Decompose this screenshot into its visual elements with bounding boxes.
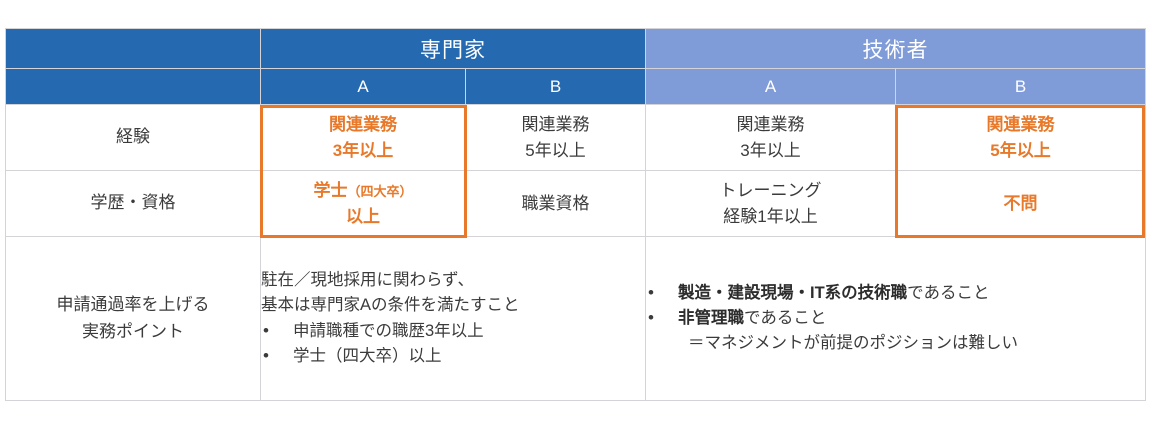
list-item: 学士（四大卒）以上 [261, 344, 645, 369]
row-label-line-1: 申請通過率を上げる [6, 292, 260, 318]
cell-line-1: トレーニング [646, 178, 895, 204]
table-row-practical-points: 申請通過率を上げる 実務ポイント 駐在／現地採用に関わらず、 基本は専門家Aの条… [6, 237, 1146, 401]
cell-education-technician-b: 不問 [896, 171, 1146, 237]
list-item-subnote: ＝マネジメントが前提のポジションは難しい [678, 331, 1145, 356]
cell-experience-technician-a: 関連業務 3年以上 [646, 105, 896, 171]
notes-intro-line-2: 基本は専門家Aの条件を満たすこと [261, 293, 645, 318]
cell-line-2: 3年以上 [261, 138, 465, 164]
list-item-rest: であること [907, 284, 989, 302]
cell-line-2: 5年以上 [466, 138, 645, 164]
cell-line-2: 経験1年以上 [646, 204, 895, 230]
table-row-experience: 経験 関連業務 3年以上 関連業務 5年以上 関連業務 3年以上 関連業務 5年… [6, 105, 1146, 171]
cell-education-specialist-a: 学士（四大卒） 以上 [261, 171, 466, 237]
header-sub-blank [6, 69, 261, 105]
cell-education-technician-a: トレーニング 経験1年以上 [646, 171, 896, 237]
notes-specialist: 駐在／現地採用に関わらず、 基本は専門家Aの条件を満たすこと 申請職種での職歴3… [261, 237, 646, 401]
list-item-bold: 非管理職 [678, 309, 744, 327]
cell-line-1: 学士（四大卒） [261, 178, 465, 204]
header-group-specialist: 専門家 [261, 29, 646, 69]
list-item-rest: であること [744, 309, 826, 327]
header-corner-blank [6, 29, 261, 69]
cell-experience-specialist-b: 関連業務 5年以上 [466, 105, 646, 171]
row-label-line-2: 実務ポイント [6, 319, 260, 345]
cell-line-1: 関連業務 [896, 112, 1145, 138]
header-group-row: 専門家 技術者 [6, 29, 1146, 69]
row-label-experience: 経験 [6, 105, 261, 171]
matrix-grid: 専門家 技術者 A B A B 経験 関連業務 3年以上 関連業務 [5, 28, 1146, 401]
row-label-practical-points: 申請通過率を上げる 実務ポイント [6, 237, 261, 401]
notes-technician: 製造・建設現場・IT系の技術職であること 非管理職であること ＝マネジメントが前… [646, 237, 1146, 401]
list-item-bold: 製造・建設現場・IT系の技術職 [678, 284, 907, 302]
notes-specialist-bullet-list: 申請職種での職歴3年以上 学士（四大卒）以上 [261, 319, 645, 369]
cell-line-1: 関連業務 [466, 112, 645, 138]
list-item: 製造・建設現場・IT系の技術職であること [646, 281, 1145, 306]
notes-technician-bullet-list: 製造・建設現場・IT系の技術職であること 非管理職であること ＝マネジメントが前… [646, 281, 1145, 356]
cell-line-2: 5年以上 [896, 138, 1145, 164]
cell-line-2: 以上 [261, 204, 465, 230]
cell-line-1: 関連業務 [646, 112, 895, 138]
notes-intro-line-1: 駐在／現地採用に関わらず、 [261, 268, 645, 293]
list-item: 申請職種での職歴3年以上 [261, 319, 645, 344]
header-technician-b: B [896, 69, 1146, 105]
cell-experience-technician-b: 関連業務 5年以上 [896, 105, 1146, 171]
cell-line-2: 3年以上 [646, 138, 895, 164]
cell-line-1: 職業資格 [466, 191, 645, 217]
table-row-education: 学歴・資格 学士（四大卒） 以上 職業資格 トレーニング 経験1年以上 不問 [6, 171, 1146, 237]
cell-experience-specialist-a: 関連業務 3年以上 [261, 105, 466, 171]
header-specialist-b: B [466, 69, 646, 105]
list-item: 非管理職であること ＝マネジメントが前提のポジションは難しい [646, 306, 1145, 356]
cell-education-specialist-b: 職業資格 [466, 171, 646, 237]
row-label-education: 学歴・資格 [6, 171, 261, 237]
cell-line-1-note: （四大卒） [347, 184, 412, 199]
header-specialist-a: A [261, 69, 466, 105]
cell-line-1: 関連業務 [261, 112, 465, 138]
header-sub-row: A B A B [6, 69, 1146, 105]
cell-line-1: 不問 [896, 191, 1145, 217]
header-group-technician: 技術者 [646, 29, 1146, 69]
qualification-matrix-table: 専門家 技術者 A B A B 経験 関連業務 3年以上 関連業務 [5, 28, 1145, 400]
header-technician-a: A [646, 69, 896, 105]
cell-line-1-main: 学士 [313, 181, 347, 200]
